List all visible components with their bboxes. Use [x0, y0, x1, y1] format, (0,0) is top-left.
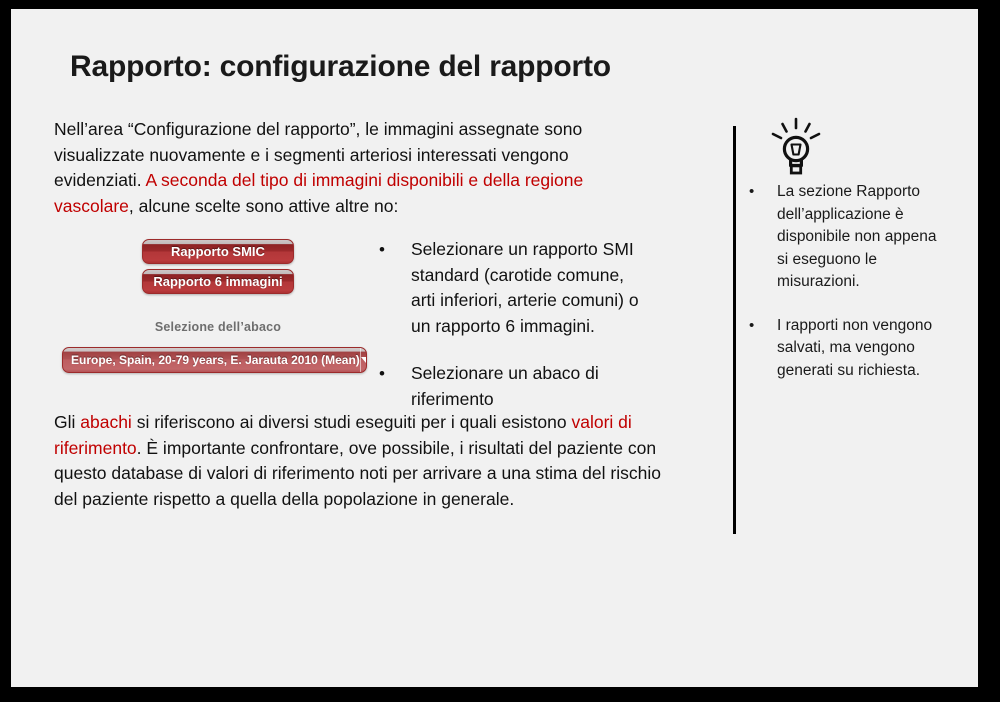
slide-frame: Rapporto: configurazione del rapporto Ne… [0, 0, 1000, 702]
bottom-segment-1: Gli [54, 412, 80, 432]
bullet-text: Selezionare un abaco di riferimento [411, 361, 643, 412]
bullet-marker: • [749, 315, 777, 383]
chevron-down-glyph [361, 357, 367, 363]
list-item: • Selezionare un rapporto SMI standard (… [373, 237, 643, 339]
list-item: • I rapporti non vengono salvati, ma ven… [749, 315, 944, 383]
bottom-paragraph-wrapper: Gli abachi si riferiscono ai diversi stu… [54, 410, 664, 512]
chevron-down-icon[interactable] [360, 348, 367, 372]
bottom-highlight-1: abachi [80, 412, 132, 432]
report-config-widget-group: Rapporto SMIC Rapporto 6 immagini Selezi… [54, 231, 374, 391]
main-content-column: Nell’area “Configurazione del rapporto”,… [54, 117, 679, 219]
bullet-marker: • [373, 361, 411, 412]
list-item: • La sezione Rapporto dell’applicazione … [749, 181, 944, 294]
bullet-text: Selezionare un rapporto SMI standard (ca… [411, 237, 643, 339]
list-item: • Selezionare un abaco di riferimento [373, 361, 643, 412]
tip-bullet-list: • La sezione Rapporto dell’applicazione … [749, 181, 944, 403]
abaco-select-value: Europe, Spain, 20-79 years, E. Jarauta 2… [63, 353, 360, 367]
tip-text: La sezione Rapporto dell’applicazione è … [777, 181, 944, 294]
abaco-selection-label: Selezione dell’abaco [142, 320, 294, 334]
mid-bullet-list: • Selezionare un rapporto SMI standard (… [373, 237, 643, 434]
tip-text: I rapporti non vengono salvati, ma vengo… [777, 315, 944, 383]
page-title: Rapporto: configurazione del rapporto [70, 47, 611, 87]
bottom-segment-5: . È importante confrontare, ove possibil… [54, 438, 661, 509]
intro-paragraph: Nell’area “Configurazione del rapporto”,… [54, 117, 639, 219]
bottom-segment-3: si riferiscono ai diversi studi eseguiti… [132, 412, 572, 432]
slide-canvas: Rapporto: configurazione del rapporto Ne… [11, 9, 978, 687]
report-smic-button[interactable]: Rapporto SMIC [142, 239, 294, 264]
vertical-divider [733, 126, 736, 534]
abaco-select[interactable]: Europe, Spain, 20-79 years, E. Jarauta 2… [62, 347, 367, 373]
bullet-marker: • [373, 237, 411, 339]
report-6-images-button[interactable]: Rapporto 6 immagini [142, 269, 294, 294]
lightbulb-icon [768, 117, 824, 179]
bottom-paragraph: Gli abachi si riferiscono ai diversi stu… [54, 410, 664, 512]
intro-segment-3: , alcune scelte sono attive altre no: [129, 196, 398, 216]
bullet-marker: • [749, 181, 777, 294]
